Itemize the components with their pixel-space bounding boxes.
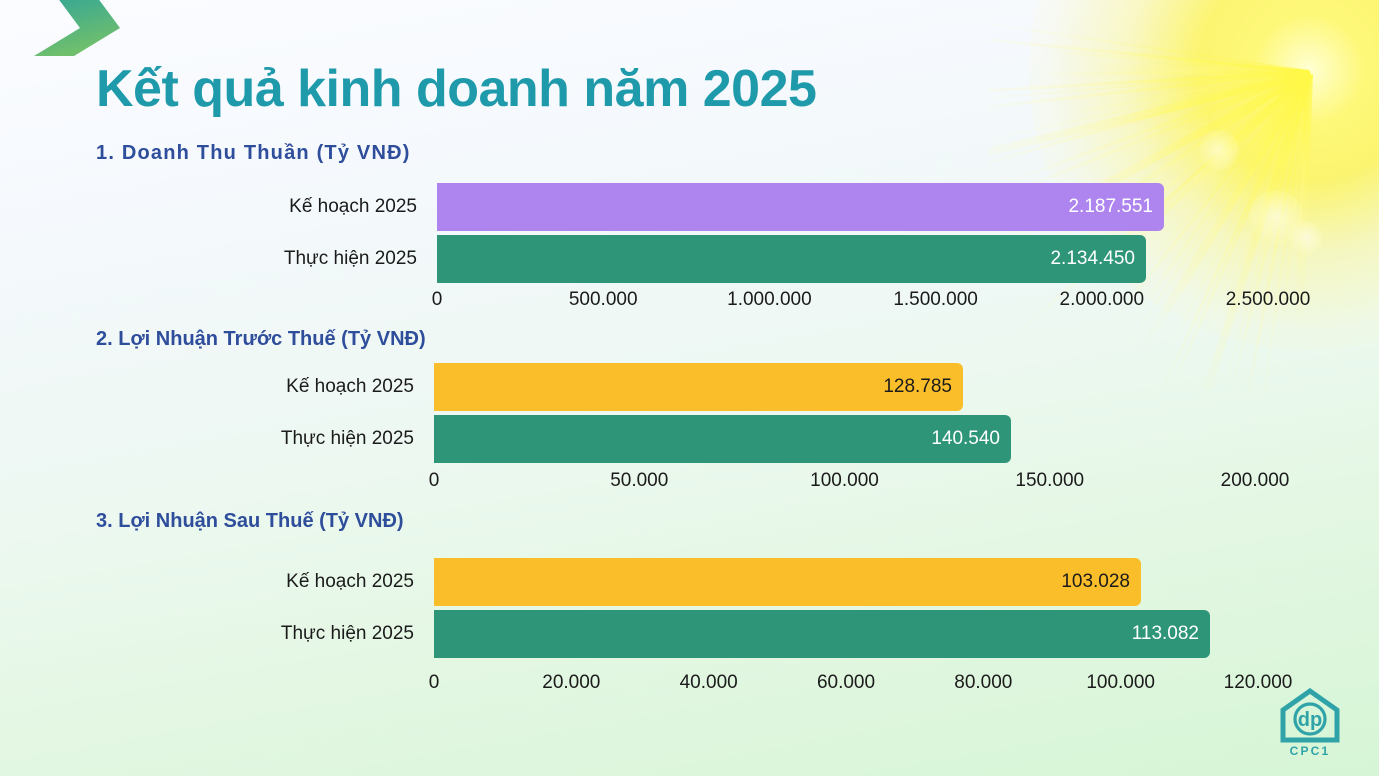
sun-ray: [989, 70, 1309, 172]
chart-row: Kế hoạch 2025128.785: [0, 363, 1379, 411]
axis-tick-label: 200.000: [1221, 470, 1290, 492]
sun-ray: [1089, 64, 1309, 78]
sun-ray: [989, 70, 1309, 143]
sun-ray: [989, 70, 1309, 104]
sun-ray: [1030, 70, 1309, 76]
category-label: Thực hiện 2025: [0, 235, 427, 283]
bar-plan: 103.028: [434, 558, 1141, 606]
sun-ray: [989, 70, 1309, 96]
category-label: Kế hoạch 2025: [0, 183, 427, 231]
page-title: Kết quả kinh doanh năm 2025: [96, 59, 816, 119]
chart-row: Thực hiện 2025140.540: [0, 415, 1379, 463]
bar-value-label: 113.082: [1132, 610, 1199, 658]
axis-tick-label: 2.500.000: [1226, 289, 1311, 311]
sun-ray: [1106, 70, 1310, 174]
axis-tick-label: 60.000: [817, 672, 875, 694]
x-axis: 0500.0001.000.0001.500.0002.000.0002.500…: [0, 289, 1379, 315]
category-label: Kế hoạch 2025: [0, 558, 424, 606]
sun-ray: [1002, 70, 1309, 185]
sun-ray: [1075, 70, 1309, 177]
sun-ray: [1042, 49, 1309, 73]
axis-tick-label: 100.000: [810, 470, 879, 492]
bar-value-label: 103.028: [1061, 558, 1130, 606]
axis-tick-label: 500.000: [569, 289, 638, 311]
sun-ray: [989, 70, 1309, 112]
bar-value-label: 2.134.450: [1050, 235, 1135, 283]
sun-ray: [1099, 70, 1309, 136]
cpc1-brand-logo: dp CPC1: [1279, 688, 1341, 758]
bar-actual: 2.134.450: [437, 235, 1146, 283]
bar-plan: 128.785: [434, 363, 963, 411]
bar-value-label: 2.187.551: [1068, 183, 1153, 231]
axis-tick-label: 50.000: [610, 470, 668, 492]
axis-tick-label: 1.500.000: [893, 289, 978, 311]
axis-tick-label: 150.000: [1015, 470, 1084, 492]
sun-ray: [989, 70, 1310, 167]
axis-tick-label: 0: [429, 672, 440, 694]
x-axis: 020.00040.00060.00080.000100.000120.000: [0, 672, 1379, 698]
category-label: Thực hiện 2025: [0, 610, 424, 658]
axis-tick-label: 20.000: [542, 672, 600, 694]
logo-company-text: CPC1: [1290, 744, 1331, 758]
axis-tick-label: 0: [429, 470, 440, 492]
bar-value-label: 128.785: [883, 363, 952, 411]
chart-row: Kế hoạch 2025103.028: [0, 558, 1379, 606]
chevron-arrow-logo: [34, 0, 142, 56]
sun-ray: [1059, 70, 1309, 116]
bar-value-label: 140.540: [931, 415, 1000, 463]
section-heading-2: 2. Lợi Nhuận Trước Thuế (Tỷ VNĐ): [96, 328, 426, 351]
sun-ray: [989, 34, 1309, 73]
axis-tick-label: 100.000: [1086, 672, 1155, 694]
category-label: Kế hoạch 2025: [0, 363, 424, 411]
axis-tick-label: 40.000: [680, 672, 738, 694]
axis-tick-label: 80.000: [954, 672, 1012, 694]
axis-tick-label: 2.000.000: [1060, 289, 1145, 311]
sun-ray: [1193, 73, 1313, 390]
chart-row: Kế hoạch 20252.187.551: [0, 183, 1379, 231]
section-heading-3: 3. Lợi Nhuận Sau Thuế (Tỷ VNĐ): [96, 510, 404, 533]
bar-plan: 2.187.551: [437, 183, 1164, 231]
axis-tick-label: 0: [432, 289, 443, 311]
axis-tick-label: 1.000.000: [727, 289, 812, 311]
category-label: Thực hiện 2025: [0, 415, 424, 463]
x-axis: 050.000100.000150.000200.000: [0, 470, 1379, 496]
sun-ray: [989, 14, 1309, 72]
chart-row: Thực hiện 20252.134.450: [0, 235, 1379, 283]
lens-flare: [1199, 130, 1239, 170]
bar-actual: 113.082: [434, 610, 1210, 658]
chart-row: Thực hiện 2025113.082: [0, 610, 1379, 658]
sun-ray: [1007, 70, 1310, 196]
logo-mark-text: dp: [1298, 709, 1322, 731]
section-heading-1: 1. Doanh Thu Thuần (Tỷ VNĐ): [96, 142, 411, 165]
bar-actual: 140.540: [434, 415, 1011, 463]
